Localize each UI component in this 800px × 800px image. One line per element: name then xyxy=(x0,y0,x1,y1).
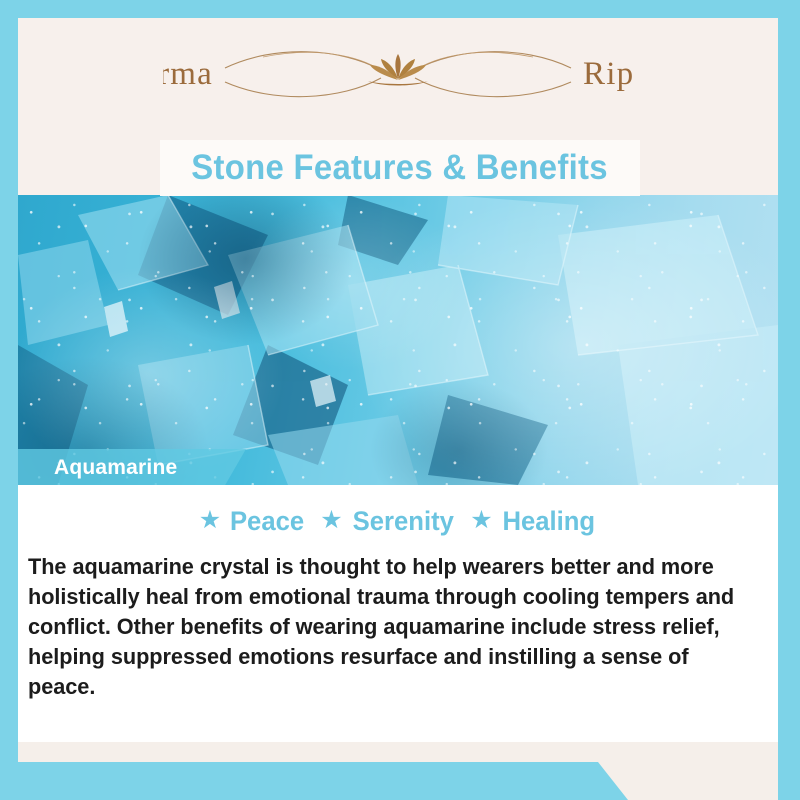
page-title: Stone Features & Benefits xyxy=(192,148,609,188)
keyword-item-peace: ★ Peace xyxy=(199,506,307,537)
title-plate: Stone Features & Benefits xyxy=(160,140,640,196)
star-icon: ★ xyxy=(320,508,342,533)
frame-border-top xyxy=(0,0,800,18)
header-band: Karma Ripple Stone Features & Benefits xyxy=(18,18,778,195)
page-bottom-cream xyxy=(18,742,778,762)
star-icon: ★ xyxy=(470,508,492,533)
keyword-label: Healing xyxy=(502,506,595,537)
infographic-card: Karma Ripple Stone Features & Benefits xyxy=(0,0,800,800)
keyword-list: ★ Peace ★ Serenity ★ Healing xyxy=(18,506,778,537)
brand-name-left: Karma xyxy=(163,56,213,92)
lotus-icon xyxy=(368,54,428,86)
brand-logo: Karma Ripple xyxy=(18,40,778,106)
stone-photo: Aquamarine xyxy=(18,195,778,485)
frame-border-right xyxy=(778,0,800,800)
photo-sparkle-layer xyxy=(18,195,778,485)
keyword-item-healing: ★ Healing xyxy=(470,506,597,537)
keyword-label: Serenity xyxy=(352,506,453,537)
brand-name-right: Ripple xyxy=(583,56,633,92)
stone-name: Aquamarine xyxy=(18,456,177,480)
frame-border-left xyxy=(0,0,18,800)
star-icon: ★ xyxy=(199,508,221,533)
stone-description: The aquamarine crystal is thought to hel… xyxy=(28,552,750,702)
brand-logo-graphic: Karma Ripple xyxy=(163,42,633,104)
frame-border-bottom xyxy=(0,762,628,800)
stone-name-banner: Aquamarine xyxy=(18,449,246,485)
keyword-label: Peace xyxy=(230,506,304,537)
card-surface: Karma Ripple Stone Features & Benefits xyxy=(18,18,778,762)
keyword-item-serenity: ★ Serenity xyxy=(320,506,456,537)
